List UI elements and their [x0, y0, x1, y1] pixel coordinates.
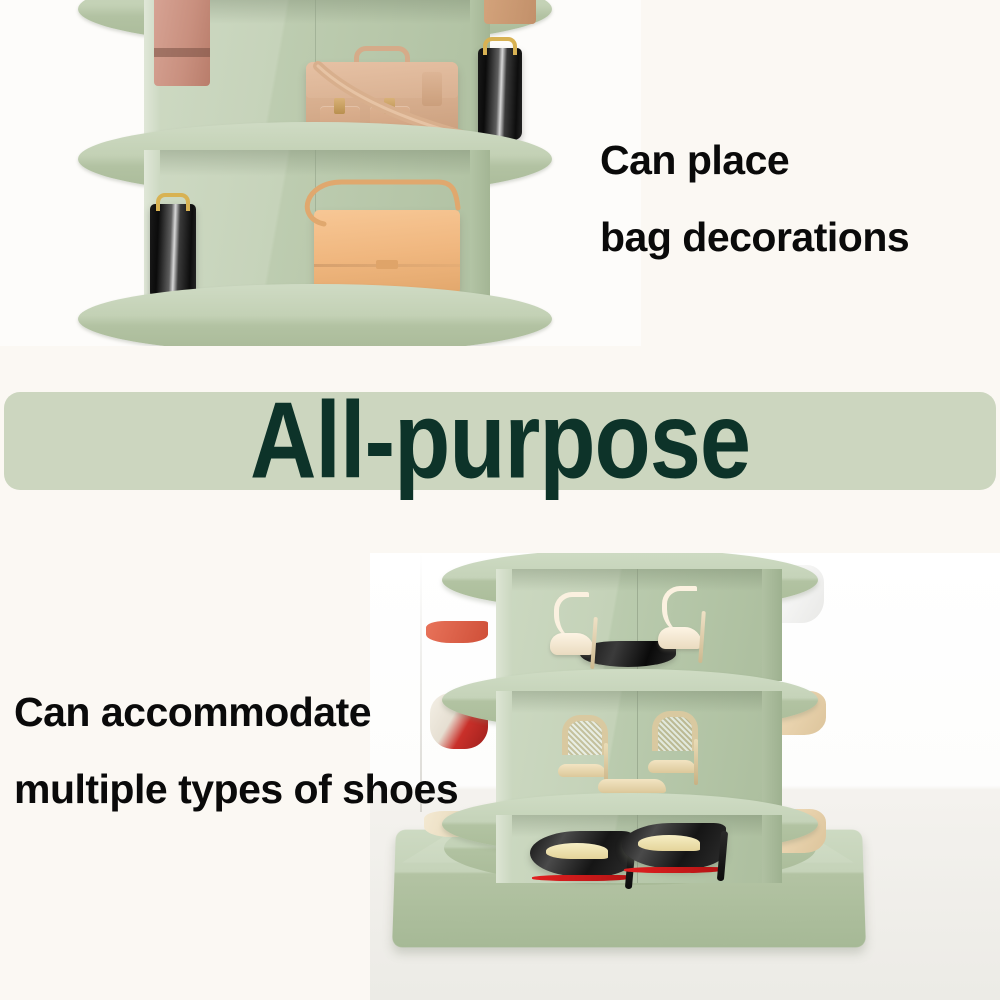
callout-bags-line1: Can place [600, 137, 789, 183]
glitter-sandal-left [558, 715, 612, 789]
cream-slingback-right [658, 585, 710, 663]
bag-rack-scene [0, 0, 641, 346]
slingback-heel-spike-l [590, 617, 598, 669]
shoe-rack-right-edge-3 [762, 815, 782, 883]
glitter-ankle-strap-l [562, 715, 608, 755]
glitter-sole-r [648, 760, 696, 773]
pump-red-sole-r [624, 867, 720, 873]
handbag-clasp [376, 260, 398, 269]
bag-gold-handle-left [156, 193, 190, 211]
shoe-rack-left-edge-1 [496, 569, 513, 681]
callout-shoes: Can accommodate multiple types of shoes [14, 692, 458, 810]
slingback-body-r [658, 627, 702, 649]
rack-right-edge-lower [470, 150, 490, 300]
tote-band [154, 48, 210, 57]
glitter-sole-l [558, 764, 606, 777]
callout-bags: Can place bag decorations [600, 140, 909, 258]
peach-flap-handbag [314, 210, 460, 294]
mauve-tote-bag [154, 0, 210, 86]
callout-shoes-line1: Can accommodate [14, 689, 371, 735]
callout-bags-line2: bag decorations [600, 217, 909, 258]
rotating-bag-rack [118, 0, 513, 346]
product-photo-bags [0, 0, 641, 346]
pump-lining-l [546, 843, 608, 859]
product-photo-shoes [370, 553, 1000, 1000]
shoe-rack-right-edge-2 [762, 691, 782, 807]
headline-banner: All-purpose [4, 392, 996, 490]
glitter-heel-spike-r [694, 739, 698, 785]
callout-shoes-line2: multiple types of shoes [14, 769, 458, 810]
cream-slingback-left [550, 591, 602, 669]
briefcase-buckle-left [334, 98, 345, 114]
marketing-image: Can place bag decorations All-purpose [0, 0, 1000, 1000]
shoe-rack-left-edge-2 [496, 691, 513, 807]
glitter-sandal-front-sole [598, 779, 666, 793]
briefcase-side-tab [422, 72, 442, 106]
shoe-rack-scene [370, 553, 1000, 1000]
coral-flat-peek [426, 621, 488, 643]
slingback-body-l [550, 633, 594, 655]
black-glossy-bag-left [150, 204, 196, 300]
headline-text: All-purpose [250, 387, 750, 496]
black-pump-right [622, 807, 732, 881]
rack-shelf-disc-bottom [78, 284, 552, 346]
slingback-heel-spike-r [698, 611, 706, 663]
handbag-thin-strap [266, 168, 466, 228]
briefcase-buckle-right [384, 98, 395, 114]
pump-red-sole-l [532, 875, 628, 881]
pump-lining-r [638, 835, 700, 851]
glitter-sandal-right [648, 711, 702, 785]
tan-crossbody-bag [484, 0, 536, 24]
rotating-shoe-rack [472, 553, 802, 963]
bag-gold-handle [483, 37, 517, 55]
shoe-rack-left-edge-3 [496, 815, 513, 883]
glitter-ankle-strap-r [652, 711, 698, 751]
black-glossy-bag-right [478, 48, 522, 140]
shoe-rack-right-edge-1 [762, 569, 782, 681]
